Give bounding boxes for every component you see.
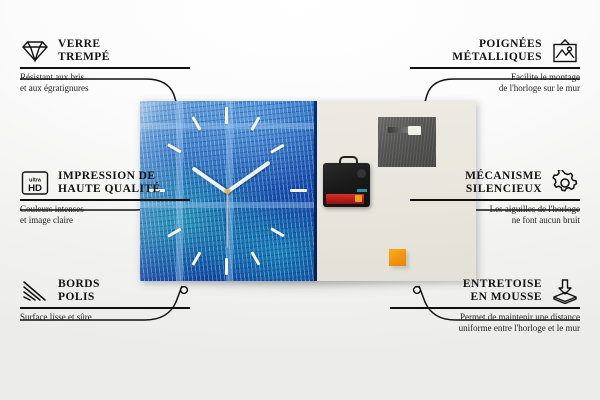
movement-hanger-loop	[339, 156, 358, 167]
callout-description: Les aiguilles de l'horloge ne font aucun…	[410, 204, 580, 226]
callout-bords-polis: BORDS POLIS Surface lisse et sûre	[20, 278, 190, 323]
callout-title-line-1: BORDS	[58, 278, 100, 291]
clock-movement-mechanism	[323, 163, 370, 207]
callout-impression-haute-qualite: ultra HD IMPRESSION DE HAUTE QUALITÉ Cou…	[20, 170, 190, 226]
svg-text:HD: HD	[28, 183, 42, 194]
callout-description: Couleurs intenses et image claire	[20, 204, 190, 226]
callout-title-line-1: MÉCANISME	[465, 170, 542, 183]
callout-header: BORDS POLIS	[20, 278, 190, 304]
callout-title-line-2: SILENCIEUX	[465, 183, 542, 196]
foam-spacer	[389, 249, 406, 266]
callout-title-line-2: HAUTE QUALITÉ	[58, 183, 161, 196]
gear-icon	[550, 170, 580, 196]
diamond-icon	[20, 39, 50, 63]
callout-title-line-2: TREMPÉ	[58, 51, 110, 64]
callout-description: Surface lisse et sûre	[20, 312, 190, 323]
callout-verre-trempe: VERRE TREMPÉ Résistant aux bris et aux é…	[20, 38, 190, 94]
bracket-highlight	[408, 126, 421, 135]
callout-poignees-metalliques: POIGNÉES MÉTALLIQUES Facilite le montage…	[410, 38, 580, 94]
callout-rule	[20, 67, 190, 69]
callout-entretoise-en-mousse: ENTRETOISE EN MOUSSE Permet de maintenir…	[390, 278, 580, 334]
callout-title-line-2: MÉTALLIQUES	[452, 51, 542, 64]
infographic-canvas: VERRE TREMPÉ Résistant aux bris et aux é…	[0, 0, 600, 400]
movement-label-strip	[357, 189, 367, 192]
callout-description: Permet de maintenir une distance uniform…	[390, 312, 580, 334]
foam-spacer-icon	[550, 278, 580, 304]
callout-title-line-2: POLIS	[58, 291, 100, 304]
callout-title-line-1: POIGNÉES	[452, 38, 542, 51]
movement-adjust-dial	[357, 169, 366, 178]
callout-header: ENTRETOISE EN MOUSSE	[390, 278, 580, 304]
callout-rule	[410, 67, 580, 69]
polished-edges-icon	[20, 279, 50, 303]
callout-mecanisme-silencieux: MÉCANISME SILENCIEUX Les aiguilles de l'…	[410, 170, 580, 226]
callout-description: Résistant aux bris et aux égratignures	[20, 72, 190, 94]
metal-hanger-bracket	[378, 117, 436, 167]
aa-battery	[326, 194, 364, 204]
callout-rule	[20, 307, 190, 309]
callout-header: MÉCANISME SILENCIEUX	[410, 170, 580, 196]
callout-rule	[20, 199, 190, 201]
ultra-hd-badge-icon: ultra HD	[20, 170, 50, 196]
callout-rule	[390, 307, 580, 309]
callout-header: VERRE TREMPÉ	[20, 38, 190, 64]
callout-title-line-1: ENTRETOISE	[463, 278, 542, 291]
callout-title-line-2: EN MOUSSE	[463, 291, 542, 304]
picture-hanger-icon	[550, 38, 580, 64]
callout-header: ultra HD IMPRESSION DE HAUTE QUALITÉ	[20, 170, 190, 196]
callout-header: POIGNÉES MÉTALLIQUES	[410, 38, 580, 64]
callout-rule	[410, 199, 580, 201]
callout-description: Facilite le montage de l'horloge sur le …	[410, 72, 580, 94]
callout-title-line-1: VERRE	[58, 38, 110, 51]
callout-title-line-1: IMPRESSION DE	[58, 170, 161, 183]
battery-positive-terminal	[355, 195, 362, 202]
